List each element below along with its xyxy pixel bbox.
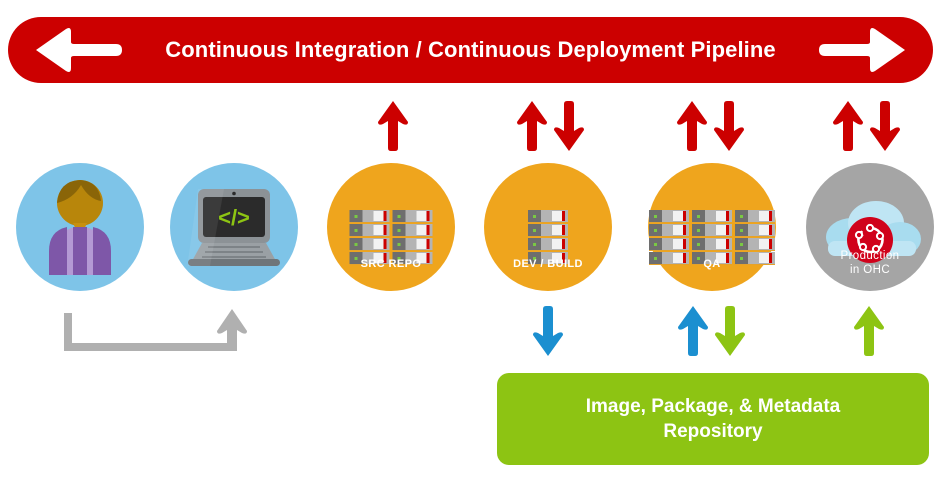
arrow-down-dev-build [553,100,585,152]
pipeline-banner: Continuous Integration / Continuous Depl… [8,17,933,83]
arrow-down-dev-build-to-repo [532,305,564,357]
node-label-production-line1: Production [806,249,934,263]
server-rack-icon [649,210,775,265]
svg-text:</>: </> [218,205,250,230]
arrow-up-repo-to-production [853,305,885,357]
arrow-left-icon [32,26,124,74]
node-label-qa: QA [648,258,776,271]
repository-box[interactable]: Image, Package, & Metadata Repository [497,373,929,465]
arrow-down-qa [713,100,745,152]
node-label-dev-build: DEV / BUILD [484,258,612,271]
repository-label-line2: Repository [663,421,762,442]
node-workstation[interactable]: </> [170,163,298,291]
node-src-repo[interactable]: SRC REPO [327,163,455,291]
node-developer[interactable] [16,163,144,291]
arrow-up-qa-to-repo [677,305,709,357]
arrow-right-icon [817,26,909,74]
node-qa[interactable]: QA [648,163,776,291]
banner-title: Continuous Integration / Continuous Depl… [165,37,776,63]
arrow-up-qa [676,100,708,152]
arrow-up-src-repo [377,100,409,152]
server-rack-icon [350,210,433,265]
node-dev-build[interactable]: DEV / BUILD [484,163,612,291]
arrow-up-production [832,100,864,152]
node-label-src-repo: SRC REPO [327,258,455,271]
node-label-production-line2: in OHC [806,263,934,277]
server-rack-icon [528,210,568,265]
arrow-down-production [869,100,901,152]
arrow-down-repo-to-qa [714,305,746,357]
arrow-up-dev-build [516,100,548,152]
person-icon [37,179,123,275]
repository-label-line1: Image, Package, & Metadata [586,396,841,417]
connector-developer-to-workstation [60,305,250,360]
laptop-code-icon: </> [184,185,284,269]
cicd-pipeline-diagram: Continuous Integration / Continuous Depl… [0,0,941,500]
node-production[interactable]: Production in OHC [806,163,934,291]
